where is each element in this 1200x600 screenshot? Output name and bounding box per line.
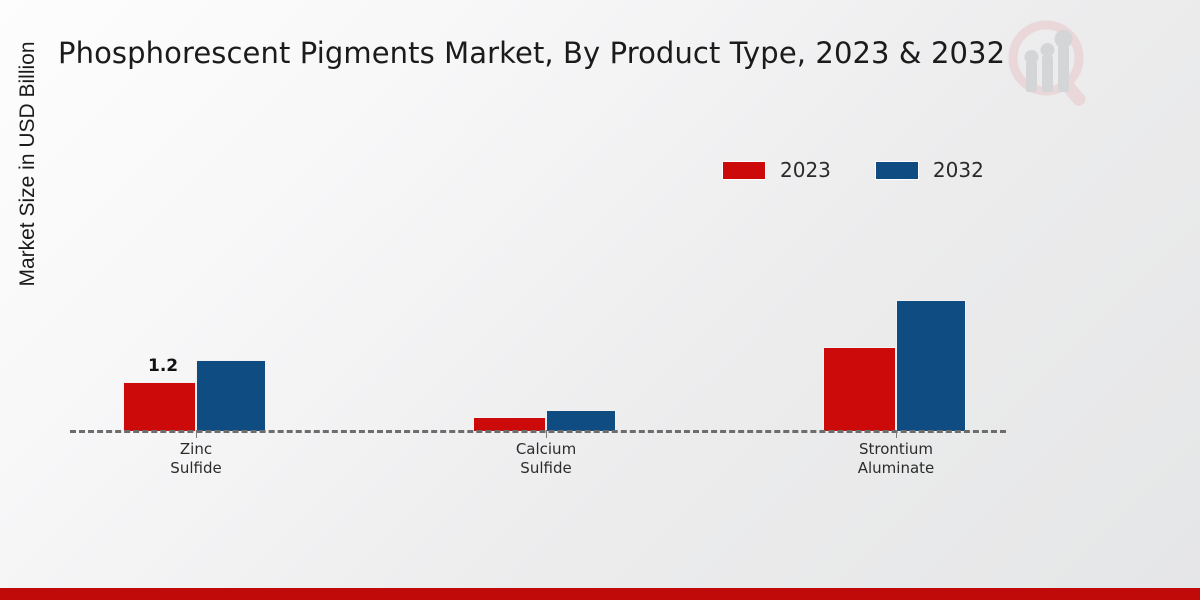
y-axis-title-wrapper: Market Size in USD Billion — [14, 4, 42, 324]
bar-zinc-sulfide-2023[interactable] — [123, 382, 196, 432]
x-axis-label-zinc-sulfide: Zinc Sulfide — [101, 440, 291, 478]
x-axis-label-strontium-aluminate: Strontium Aluminate — [801, 440, 991, 478]
tick-calcium-sulfide — [546, 430, 547, 438]
chart-title: Phosphorescent Pigments Market, By Produ… — [58, 36, 1005, 70]
x-axis-baseline — [70, 430, 1006, 433]
x-axis-label-calcium-sulfide: Calcium Sulfide — [451, 440, 641, 478]
x-axis-label-zinc-sulfide-line1: Zinc — [101, 440, 291, 459]
plot-area: 1.2 Zinc Sulfide Calcium Sulfide Stronti… — [70, 120, 1006, 432]
y-axis-title: Market Size in USD Billion — [16, 41, 40, 286]
magnifier-bar-chart-logo-icon — [1005, 14, 1091, 112]
x-axis-label-calcium-sulfide-line1: Calcium — [451, 440, 641, 459]
x-axis-label-calcium-sulfide-line2: Sulfide — [451, 459, 641, 478]
tick-strontium-aluminate — [896, 430, 897, 438]
bar-strontium-aluminate-2023[interactable] — [823, 347, 896, 432]
tick-zinc-sulfide — [196, 430, 197, 438]
data-label-zinc-sulfide-2023: 1.2 — [148, 356, 178, 376]
bar-zinc-sulfide-2032[interactable] — [196, 360, 266, 432]
bar-strontium-aluminate-2032[interactable] — [896, 300, 966, 432]
footer-accent-bar — [0, 588, 1200, 600]
bar-calcium-sulfide-2032[interactable] — [546, 410, 616, 432]
x-axis-label-strontium-aluminate-line2: Aluminate — [801, 459, 991, 478]
x-axis-label-zinc-sulfide-line2: Sulfide — [101, 459, 291, 478]
x-axis-label-strontium-aluminate-line1: Strontium — [801, 440, 991, 459]
chart-canvas: Phosphorescent Pigments Market, By Produ… — [0, 0, 1200, 600]
